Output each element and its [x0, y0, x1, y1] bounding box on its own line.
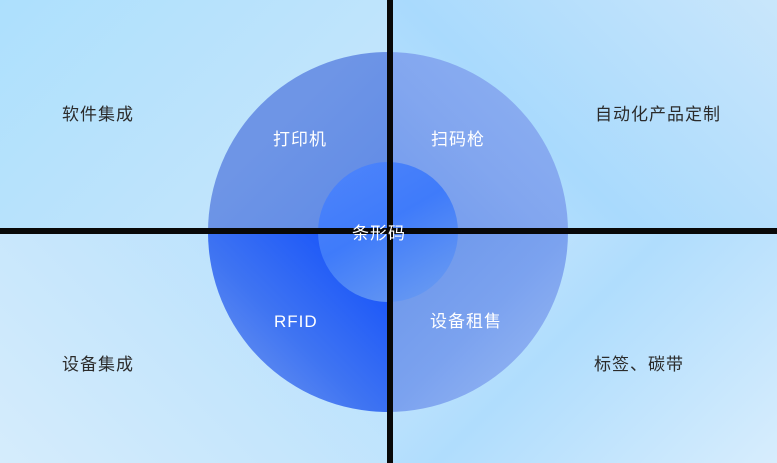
quadrant-label-software-integration: 软件集成: [62, 106, 134, 123]
sector-label-rfid: RFID: [274, 313, 318, 330]
quadrant-label-labels-ribbons: 标签、碳带: [594, 356, 684, 373]
sector-label-printer: 打印机: [273, 131, 327, 148]
sector-label-rental: 设备租售: [430, 313, 502, 330]
center-circle-label: 条形码: [352, 225, 406, 242]
diagram-canvas: 软件集成 自动化产品定制 设备集成 标签、碳带 打印机 扫码枪 RFID 设备租…: [0, 0, 777, 463]
sector-label-scanner: 扫码枪: [431, 131, 485, 148]
quadrant-label-automation-customization: 自动化产品定制: [595, 106, 721, 123]
quadrant-label-device-integration: 设备集成: [62, 356, 134, 373]
